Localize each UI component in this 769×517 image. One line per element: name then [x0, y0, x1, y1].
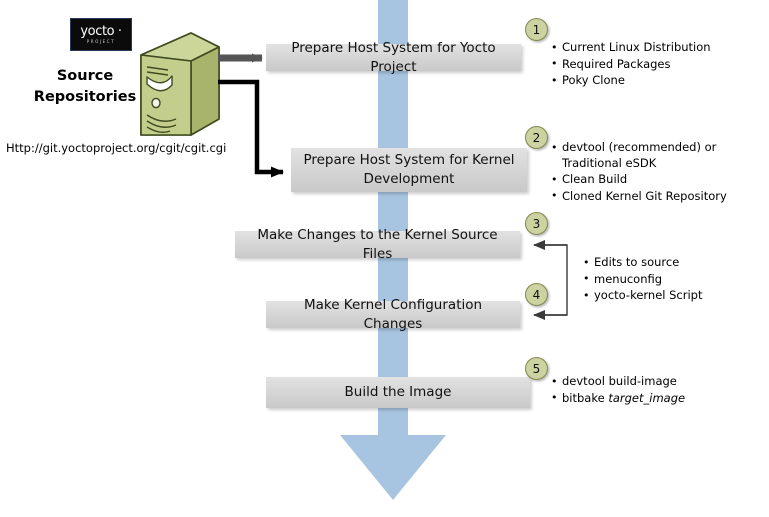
list-item: Edits to source — [583, 255, 763, 271]
list-item: Poky Clone — [551, 73, 766, 89]
step-number-3: 3 — [525, 212, 548, 235]
diagram-canvas: yocto · PROJECT Source Repositories Http… — [0, 0, 769, 517]
list-item: devtool build-image — [551, 374, 766, 390]
list-item: Cloned Kernel Git Repository — [551, 189, 766, 205]
list-item: devtool (recommended) or Traditional eSD… — [551, 140, 766, 171]
bullet-list-step2: devtool (recommended) or Traditional eSD… — [551, 140, 766, 205]
process-box-step5[interactable]: Build the Image — [266, 377, 530, 408]
list-item-text: bitbake — [562, 391, 608, 405]
list-item: Clean Build — [551, 172, 766, 188]
step-number-1: 1 — [525, 18, 548, 41]
arrow-server-to-step2 — [218, 82, 283, 172]
list-item-text: devtool build-image — [562, 374, 677, 388]
bullet-list-steps-3-4: Edits to source menuconfig yocto-kernel … — [583, 255, 763, 305]
process-box-step2[interactable]: Prepare Host System for Kernel Developme… — [291, 148, 527, 192]
step-number-4: 4 — [525, 283, 548, 306]
bullet-list-step1: Current Linux Distribution Required Pack… — [551, 40, 766, 90]
bullet-list-step5: devtool build-image bitbake target_image — [551, 374, 766, 407]
step-number-2: 2 — [525, 126, 548, 149]
list-item: bitbake target_image — [551, 391, 766, 407]
process-box-step4[interactable]: Make Kernel Configuration Changes — [266, 301, 520, 328]
list-item-emphasis: target_image — [608, 391, 685, 405]
step-number-5: 5 — [525, 357, 548, 380]
list-item: Current Linux Distribution — [551, 40, 766, 56]
list-item: Required Packages — [551, 57, 766, 73]
list-item: menuconfig — [583, 272, 763, 288]
process-box-step1[interactable]: Prepare Host System for Yocto Project — [266, 44, 521, 71]
process-box-step3[interactable]: Make Changes to the Kernel Source Files — [235, 231, 520, 258]
list-item: yocto-kernel Script — [583, 288, 763, 304]
